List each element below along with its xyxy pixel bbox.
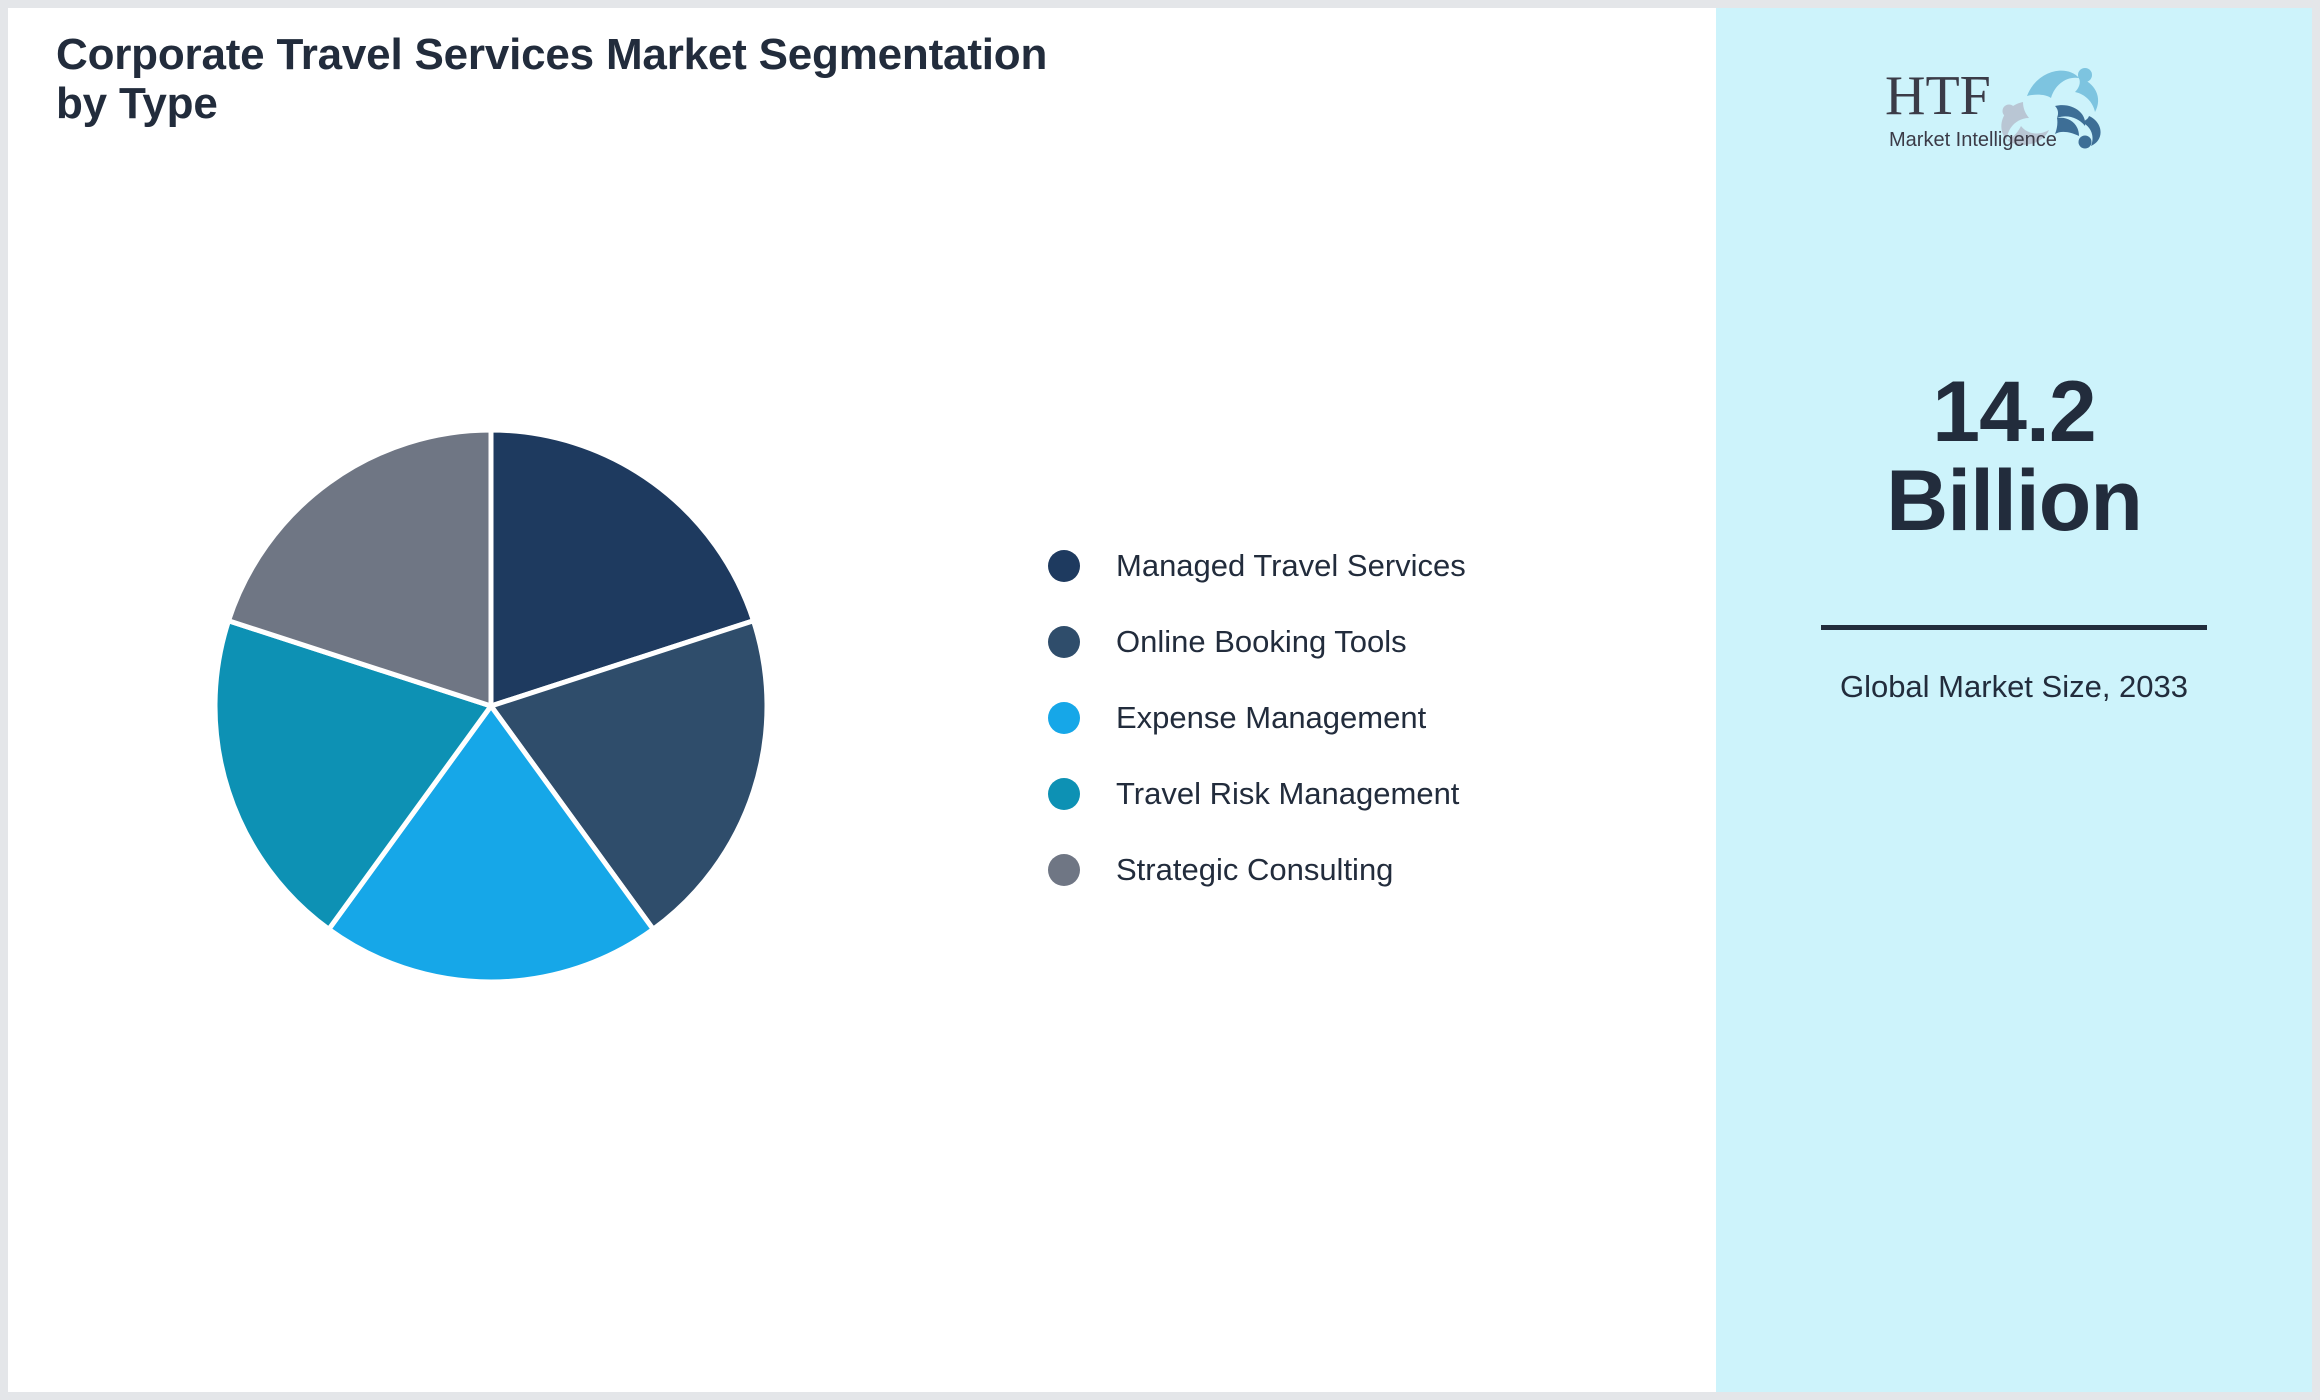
- chart-panel: Corporate Travel Services Market Segment…: [8, 8, 1716, 1392]
- stat-panel: HTF Market Intelligence 14.2 Billion Glo…: [1716, 8, 2312, 1392]
- legend-item-label: Strategic Consulting: [1116, 852, 1393, 888]
- infographic-card: Corporate Travel Services Market Segment…: [8, 8, 2312, 1392]
- legend-item[interactable]: Online Booking Tools: [1048, 604, 1608, 680]
- logo-wordmark-text: HTF: [1885, 65, 1991, 127]
- legend-item-label: Managed Travel Services: [1116, 548, 1466, 584]
- legend-item-label: Expense Management: [1116, 700, 1426, 736]
- pie-slice-group: [215, 430, 767, 982]
- pie-chart: Managed Travel ServicesOnline Booking To…: [8, 8, 1716, 1392]
- legend-swatch-icon: [1048, 626, 1080, 658]
- pie-chart-svg: [183, 398, 799, 1014]
- stat-divider: [1821, 625, 2207, 630]
- legend-item[interactable]: Travel Risk Management: [1048, 756, 1608, 832]
- legend-swatch-icon: [1048, 702, 1080, 734]
- legend-item[interactable]: Expense Management: [1048, 680, 1608, 756]
- legend-item[interactable]: Strategic Consulting: [1048, 832, 1608, 908]
- stat-caption: Global Market Size, 2033: [1716, 666, 2312, 708]
- chart-legend: Managed Travel ServicesOnline Booking To…: [1048, 528, 1608, 908]
- logo-tagline-text: Market Intelligence: [1889, 129, 2057, 151]
- legend-item-label: Travel Risk Management: [1116, 776, 1459, 812]
- market-size-stat: 14.2 Billion Global Market Size, 2033: [1716, 368, 2312, 708]
- legend-swatch-icon: [1048, 854, 1080, 886]
- legend-item[interactable]: Managed Travel Services: [1048, 528, 1608, 604]
- stat-value: 14.2 Billion: [1716, 368, 2312, 547]
- legend-swatch-icon: [1048, 550, 1080, 582]
- legend-swatch-icon: [1048, 778, 1080, 810]
- legend-item-label: Online Booking Tools: [1116, 624, 1407, 660]
- htf-market-intelligence-logo: HTF Market Intelligence: [1879, 56, 2149, 152]
